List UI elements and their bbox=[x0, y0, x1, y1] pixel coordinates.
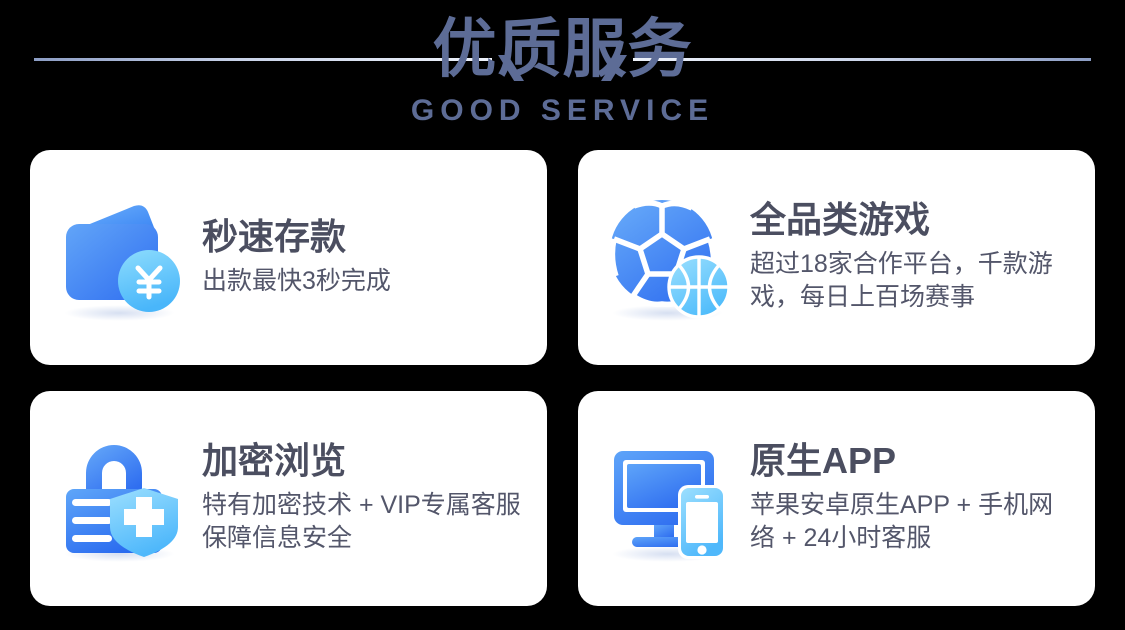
page-title: 优质服务 bbox=[407, 17, 719, 81]
feature-card-games[interactable]: 全品类游戏 超过18家合作平台，千款游戏，每日上百场赛事 bbox=[578, 150, 1095, 365]
wallet-yen-icon bbox=[56, 192, 188, 324]
title-row: 优质服务 bbox=[0, 0, 1125, 98]
feature-card-grid: 秒速存款 出款最快3秒完成 bbox=[30, 150, 1095, 598]
good-service-banner: 优质服务 GOOD SERVICE bbox=[0, 0, 1125, 630]
feature-card-deposit[interactable]: 秒速存款 出款最快3秒完成 bbox=[30, 150, 547, 365]
soccer-basketball-icon bbox=[604, 192, 736, 324]
page-subtitle: GOOD SERVICE bbox=[411, 94, 714, 128]
card-title: 加密浏览 bbox=[202, 441, 525, 481]
banner-header: 优质服务 GOOD SERVICE bbox=[0, 0, 1125, 140]
card-title: 秒速存款 bbox=[202, 217, 525, 257]
card-description: 苹果安卓原生APP + 手机网络 + 24小时客服 bbox=[750, 489, 1073, 556]
card-text-block: 秒速存款 出款最快3秒完成 bbox=[202, 217, 525, 298]
lock-shield-icon bbox=[56, 433, 188, 565]
feature-card-native-app[interactable]: 原生APP 苹果安卓原生APP + 手机网络 + 24小时客服 bbox=[578, 391, 1095, 606]
card-text-block: 原生APP 苹果安卓原生APP + 手机网络 + 24小时客服 bbox=[750, 441, 1073, 556]
card-text-block: 全品类游戏 超过18家合作平台，千款游戏，每日上百场赛事 bbox=[750, 200, 1073, 315]
monitor-phone-icon bbox=[604, 433, 736, 565]
card-title: 原生APP bbox=[750, 441, 1073, 481]
card-description: 超过18家合作平台，千款游戏，每日上百场赛事 bbox=[750, 248, 1073, 315]
card-title: 全品类游戏 bbox=[750, 200, 1073, 240]
card-description: 特有加密技术 + VIP专属客服保障信息安全 bbox=[202, 489, 525, 556]
feature-card-encryption[interactable]: 加密浏览 特有加密技术 + VIP专属客服保障信息安全 bbox=[30, 391, 547, 606]
card-description: 出款最快3秒完成 bbox=[202, 265, 525, 299]
card-text-block: 加密浏览 特有加密技术 + VIP专属客服保障信息安全 bbox=[202, 441, 525, 556]
